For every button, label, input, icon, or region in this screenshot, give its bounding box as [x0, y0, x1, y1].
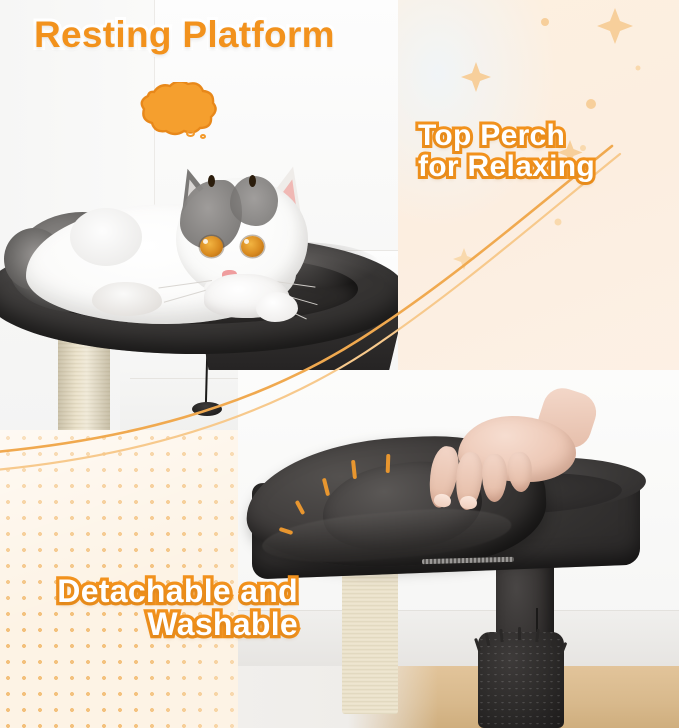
cat-back-paw [92, 282, 162, 316]
hand-lifting-cover [422, 418, 582, 528]
feature-label-detachable-washable: Detachable and Washable [16, 575, 298, 642]
cat-pupil-left [208, 175, 215, 187]
thought-bubble-dot [186, 130, 195, 137]
cat-eye-glint [203, 239, 208, 244]
sisal-scratching-post [342, 566, 398, 714]
decor-dot [636, 66, 641, 71]
motion-line [386, 454, 391, 473]
cat-paw-tip [256, 292, 298, 322]
groomer-spike [518, 627, 521, 640]
decor-dot [555, 219, 562, 226]
cat-eye-glint [244, 239, 249, 244]
thought-bubble [128, 82, 224, 146]
feature-label-top-perch: Top Perch for Relaxing [418, 120, 595, 182]
platform-assembly [246, 430, 646, 570]
decor-dot [541, 18, 549, 26]
page-title-resting-platform: Resting Platform [34, 16, 335, 54]
peach-accent-panel [398, 0, 679, 430]
cat-flank-white [70, 208, 142, 266]
decor-dot [586, 99, 596, 109]
fingernail [459, 495, 477, 509]
cat-pupil-right [249, 175, 256, 187]
photo-detachable-cover [238, 370, 679, 728]
sparkle-star-icon [597, 8, 633, 44]
sparkle-star-icon [461, 62, 491, 92]
thought-bubble-icon [128, 82, 224, 146]
floor-shadow-mask [238, 666, 438, 728]
hanging-ball-toy [192, 402, 222, 416]
cat [4, 170, 344, 345]
self-groomer-brush [478, 632, 564, 728]
thought-bubble-dot [200, 134, 206, 139]
infographic-canvas: Resting Platform Top Perch for Relaxing … [0, 0, 679, 728]
star-decorations [398, 0, 679, 430]
finger-ring [482, 454, 507, 502]
sparkle-star-icon [453, 248, 475, 270]
baseboard [238, 610, 679, 670]
